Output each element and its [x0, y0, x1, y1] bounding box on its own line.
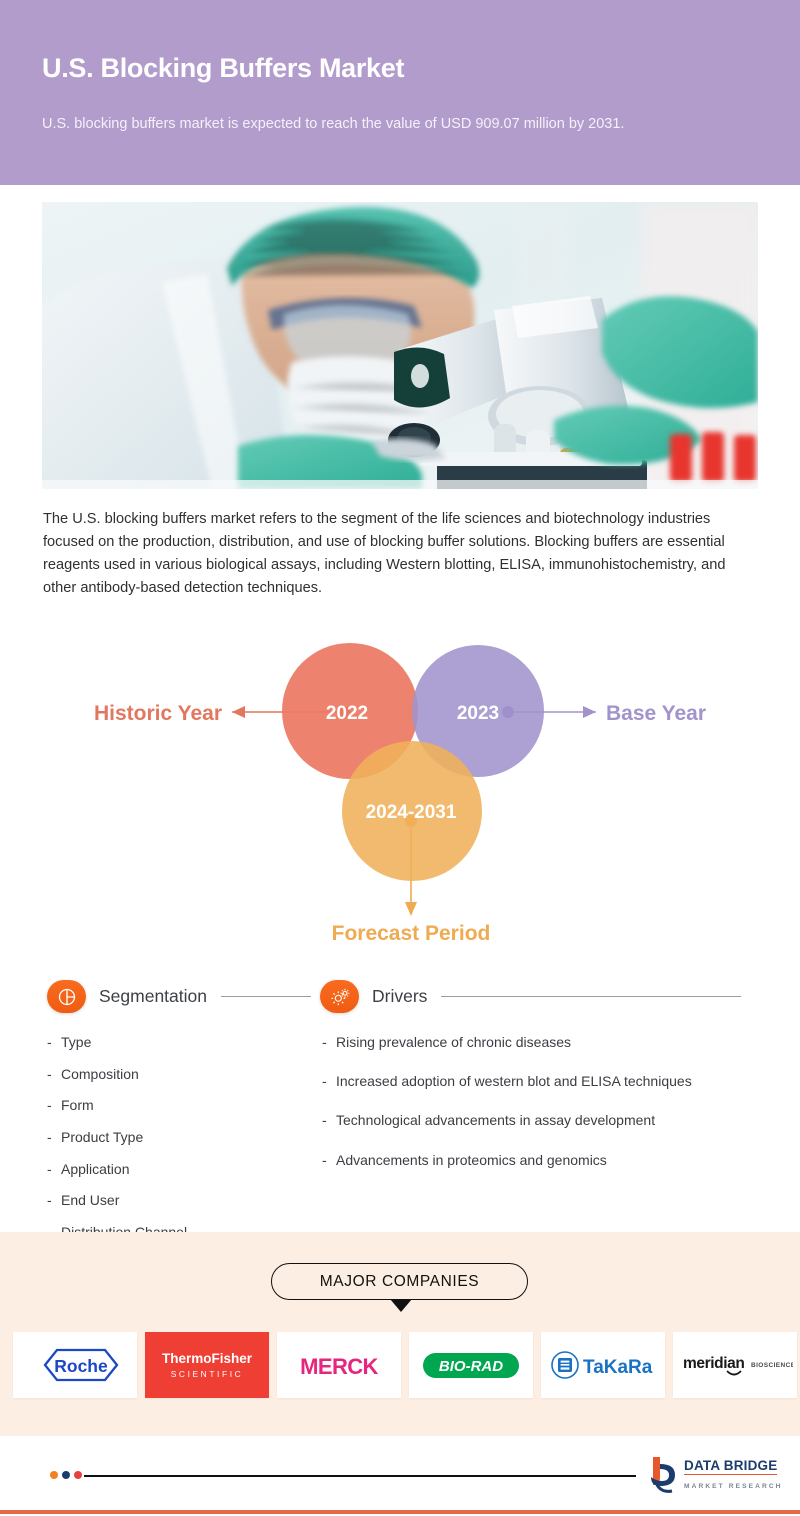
- segmentation-header: Segmentation: [47, 980, 311, 1013]
- list-item: - Technological advancements in assay de…: [322, 1111, 782, 1129]
- bottom-accent-bar: [0, 1510, 800, 1514]
- bullet-dash: -: [47, 1160, 61, 1178]
- drivers-rule: [441, 996, 741, 997]
- list-item-label: Form: [61, 1096, 94, 1114]
- thermofisher-logo: ThermoFisher SCIENTIFIC: [151, 1343, 263, 1387]
- company-logo-row: Roche ThermoFisher SCIENTIFIC MERCK: [13, 1332, 800, 1398]
- footer-divider: [84, 1475, 636, 1477]
- venn-label-forecast: Forecast Period: [332, 922, 491, 945]
- list-item: - Product Type: [47, 1128, 297, 1146]
- brand-line-1: DATA BRIDGE: [684, 1458, 777, 1475]
- thermofisher-logo-subtext: SCIENTIFIC: [171, 1369, 244, 1379]
- list-item: - Rising prevalence of chronic diseases: [322, 1033, 782, 1051]
- venn-value-historic: 2022: [326, 703, 368, 724]
- roche-logo: Roche: [23, 1342, 127, 1388]
- list-item: - Type: [47, 1033, 297, 1051]
- brand-line-2: MARKET RESEARCH: [684, 1483, 783, 1490]
- drivers-title: Drivers: [372, 986, 427, 1007]
- infographic-page: U.S. Blocking Buffers Market U.S. blocki…: [0, 0, 800, 1516]
- bullet-dash: -: [322, 1151, 336, 1169]
- biorad-logo-text: BIO-RAD: [439, 1358, 503, 1375]
- list-item-label: Technological advancements in assay deve…: [336, 1111, 655, 1129]
- logo-box-meridian[interactable]: meridian BIOSCIENCE: [673, 1332, 797, 1398]
- bullet-dash: -: [47, 1128, 61, 1146]
- meridian-logo-text: meridian: [683, 1355, 744, 1372]
- data-bridge-wordmark: DATA BRIDGE MARKET RESEARCH: [684, 1457, 783, 1493]
- gears-icon: [320, 980, 359, 1013]
- major-companies-badge: MAJOR COMPANIES: [271, 1263, 528, 1300]
- takara-logo: TaKaRa: [547, 1345, 659, 1385]
- logo-box-merck[interactable]: MERCK: [277, 1332, 401, 1398]
- dot-red-icon: [74, 1471, 82, 1479]
- meridian-logo: meridian BIOSCIENCE: [677, 1345, 793, 1385]
- bullet-dash: -: [47, 1096, 61, 1114]
- venn-value-base: 2023: [457, 703, 499, 724]
- venn-value-forecast: 2024-2031: [366, 802, 457, 823]
- hero-photo: [42, 202, 758, 489]
- roche-logo-text: Roche: [54, 1356, 108, 1376]
- list-item-label: Advancements in proteomics and genomics: [336, 1151, 607, 1169]
- segmentation-drivers-section: Segmentation - Type - Composition - Form…: [0, 975, 800, 1220]
- logo-box-biorad[interactable]: BIO-RAD: [409, 1332, 533, 1398]
- list-item: - Increased adoption of western blot and…: [322, 1072, 782, 1090]
- data-bridge-logo[interactable]: DATA BRIDGE MARKET RESEARCH: [648, 1455, 783, 1495]
- major-companies-section: MAJOR COMPANIES Roche ThermoFisher SCIEN…: [0, 1232, 800, 1436]
- dot-navy-icon: [62, 1471, 70, 1479]
- bullet-dash: -: [322, 1033, 336, 1051]
- takara-logo-text: TaKaRa: [583, 1357, 653, 1378]
- thermofisher-logo-text: ThermoFisher: [162, 1351, 253, 1366]
- list-item-label: Application: [61, 1160, 130, 1178]
- meridian-logo-subtext: BIOSCIENCE: [751, 1362, 793, 1369]
- timeline-venn-diagram: 2022 2023 2024-2031 Historic Year Base Y…: [0, 625, 800, 965]
- venn-label-historic: Historic Year: [94, 702, 222, 725]
- list-item-label: Composition: [61, 1065, 139, 1083]
- footer-dots: [50, 1471, 82, 1479]
- drivers-list: - Rising prevalence of chronic diseases …: [322, 1033, 782, 1169]
- list-item: - Composition: [47, 1065, 297, 1083]
- banner-subtitle: U.S. blocking buffers market is expected…: [42, 113, 642, 135]
- intro-paragraph: The U.S. blocking buffers market refers …: [43, 508, 755, 600]
- drivers-header: Drivers: [320, 980, 760, 1013]
- bullet-dash: -: [47, 1191, 61, 1209]
- data-bridge-mark-icon: [648, 1455, 678, 1495]
- bullet-dash: -: [322, 1111, 336, 1129]
- bullet-dash: -: [47, 1033, 61, 1051]
- bullet-dash: -: [47, 1065, 61, 1083]
- list-item-label: Increased adoption of western blot and E…: [336, 1072, 692, 1090]
- logo-box-roche[interactable]: Roche: [13, 1332, 137, 1398]
- merck-logo-text: MERCK: [300, 1354, 378, 1379]
- page-title: U.S. Blocking Buffers Market: [42, 52, 404, 84]
- badge-pointer-icon: [390, 1299, 412, 1312]
- bullet-dash: -: [322, 1072, 336, 1090]
- merck-logo: MERCK: [284, 1345, 394, 1385]
- segmentation-list: - Type - Composition - Form - Product Ty…: [47, 1033, 297, 1241]
- dot-orange-icon: [50, 1471, 58, 1479]
- logo-box-takara[interactable]: TaKaRa: [541, 1332, 665, 1398]
- list-item-label: Rising prevalence of chronic diseases: [336, 1033, 571, 1051]
- microscope-photo-illustration: [42, 202, 758, 489]
- list-item-label: End User: [61, 1191, 119, 1209]
- segmentation-rule: [221, 996, 311, 997]
- segmentation-title: Segmentation: [99, 986, 207, 1007]
- header-banner: U.S. Blocking Buffers Market U.S. blocki…: [0, 0, 800, 185]
- list-item: - Form: [47, 1096, 297, 1114]
- list-item: - End User: [47, 1191, 297, 1209]
- list-item-label: Type: [61, 1033, 91, 1051]
- list-item: - Advancements in proteomics and genomic…: [322, 1151, 782, 1169]
- pie-chart-icon: [47, 980, 86, 1013]
- list-item-label: Product Type: [61, 1128, 143, 1146]
- list-item: - Application: [47, 1160, 297, 1178]
- biorad-logo: BIO-RAD: [417, 1345, 525, 1385]
- venn-label-base: Base Year: [606, 702, 706, 725]
- logo-box-thermofisher[interactable]: ThermoFisher SCIENTIFIC: [145, 1332, 269, 1398]
